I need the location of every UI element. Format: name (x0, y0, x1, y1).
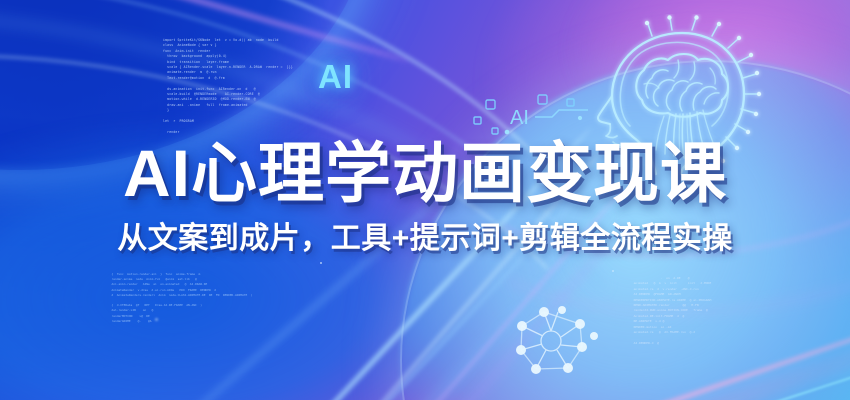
circuit-ai-text: AI (510, 107, 529, 129)
ai-glow-label: AI (318, 58, 353, 96)
network-node-graphic (496, 300, 606, 382)
sparkle-dot-2 (155, 318, 158, 321)
banner-title: AI心理学动画变现课 (0, 136, 850, 210)
sparkle-dot-1 (320, 262, 322, 264)
sparkle-dot-3 (612, 270, 614, 272)
banner-subtitle: 从文案到成片，工具+提示词+剪辑全流程实操 (0, 219, 850, 259)
promo-banner: import SpriteKit/SKNode let v = Vo.d() a… (0, 0, 850, 400)
